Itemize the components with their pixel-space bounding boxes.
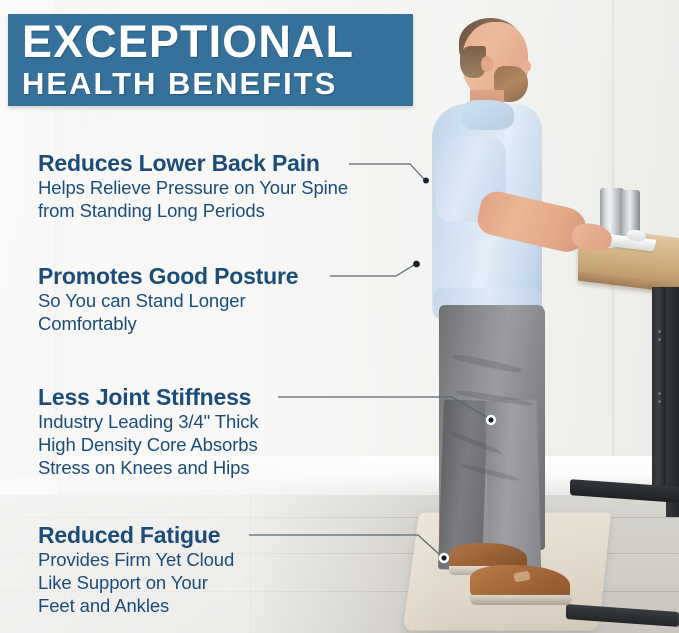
benefit-block-4: Reduced Fatigue Provides Firm Yet Cloud … bbox=[38, 522, 234, 617]
banner-title-line1: EXCEPTIONAL bbox=[22, 18, 413, 66]
desk-bolt bbox=[658, 330, 661, 333]
desk-bolt bbox=[658, 400, 661, 403]
shirt-collar bbox=[462, 100, 514, 130]
header-banner: EXCEPTIONAL HEALTH BENEFITS bbox=[8, 14, 413, 106]
benefit-1-body-line-1: Helps Relieve Pressure on Your Spine bbox=[38, 177, 348, 199]
benefit-block-2: Promotes Good Posture So You can Stand L… bbox=[38, 263, 298, 335]
benefit-4-body-line-2: Like Support on Your bbox=[38, 572, 234, 594]
benefit-block-1: Reduces Lower Back Pain Helps Relieve Pr… bbox=[38, 150, 348, 222]
benefit-3-body-line-3: Stress on Knees and Hips bbox=[38, 457, 259, 479]
desk-column bbox=[652, 287, 666, 487]
desk-bolt bbox=[658, 392, 661, 395]
benefit-4-title: Reduced Fatigue bbox=[38, 522, 234, 548]
benefit-1-body-line-2: from Standing Long Periods bbox=[38, 200, 348, 222]
infographic-poster: EXCEPTIONAL HEALTH BENEFITS Reduces Lowe… bbox=[0, 0, 679, 633]
desk-column-rear bbox=[666, 287, 679, 517]
shoe-front-sole bbox=[470, 595, 572, 605]
benefit-1-title: Reduces Lower Back Pain bbox=[38, 150, 348, 176]
banner-title-line2: HEALTH BENEFITS bbox=[22, 66, 413, 102]
benefit-3-body-line-2: High Density Core Absorbs bbox=[38, 434, 259, 456]
benefit-2-title: Promotes Good Posture bbox=[38, 263, 298, 289]
desk-bolt bbox=[658, 338, 661, 341]
benefit-3-body-line-1: Industry Leading 3/4" Thick bbox=[38, 411, 259, 433]
benefit-block-3: Less Joint Stiffness Industry Leading 3/… bbox=[38, 384, 259, 479]
benefit-3-title: Less Joint Stiffness bbox=[38, 384, 259, 410]
benefit-2-body-line-1: So You can Stand Longer bbox=[38, 290, 298, 312]
benefit-4-body-line-3: Feet and Ankles bbox=[38, 595, 234, 617]
ear bbox=[481, 56, 493, 72]
benefit-4-body-line-1: Provides Firm Yet Cloud bbox=[38, 549, 234, 571]
benefit-2-body-line-2: Comfortably bbox=[38, 313, 298, 335]
